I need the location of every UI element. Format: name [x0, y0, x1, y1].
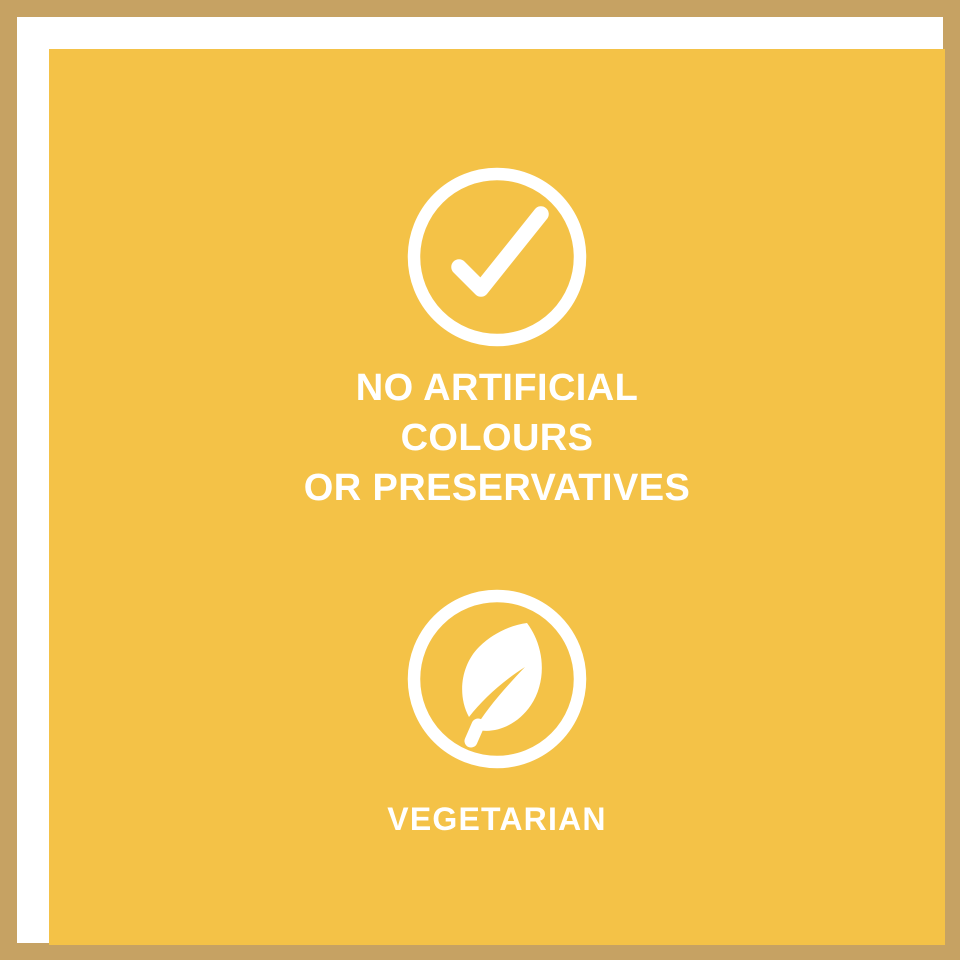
caption-line: VEGETARIAN	[387, 801, 606, 837]
badge-no-artificial: NO ARTIFICIAL COLOURS OR PRESERVATIVES	[49, 167, 945, 513]
caption-line: COLOURS	[304, 413, 691, 463]
check-circle-icon	[407, 167, 587, 347]
caption-line: NO ARTIFICIAL	[304, 363, 691, 413]
leaf-circle-icon	[407, 589, 587, 769]
white-frame: NO ARTIFICIAL COLOURS OR PRESERVATIVES	[17, 17, 943, 943]
badge-vegetarian: VEGETARIAN	[49, 589, 945, 839]
badge-graphic-canvas: NO ARTIFICIAL COLOURS OR PRESERVATIVES	[0, 0, 960, 960]
caption-line: OR PRESERVATIVES	[304, 463, 691, 513]
badge-vegetarian-caption: VEGETARIAN	[387, 799, 606, 839]
yellow-panel: NO ARTIFICIAL COLOURS OR PRESERVATIVES	[49, 49, 945, 945]
badge-no-artificial-caption: NO ARTIFICIAL COLOURS OR PRESERVATIVES	[304, 363, 691, 513]
